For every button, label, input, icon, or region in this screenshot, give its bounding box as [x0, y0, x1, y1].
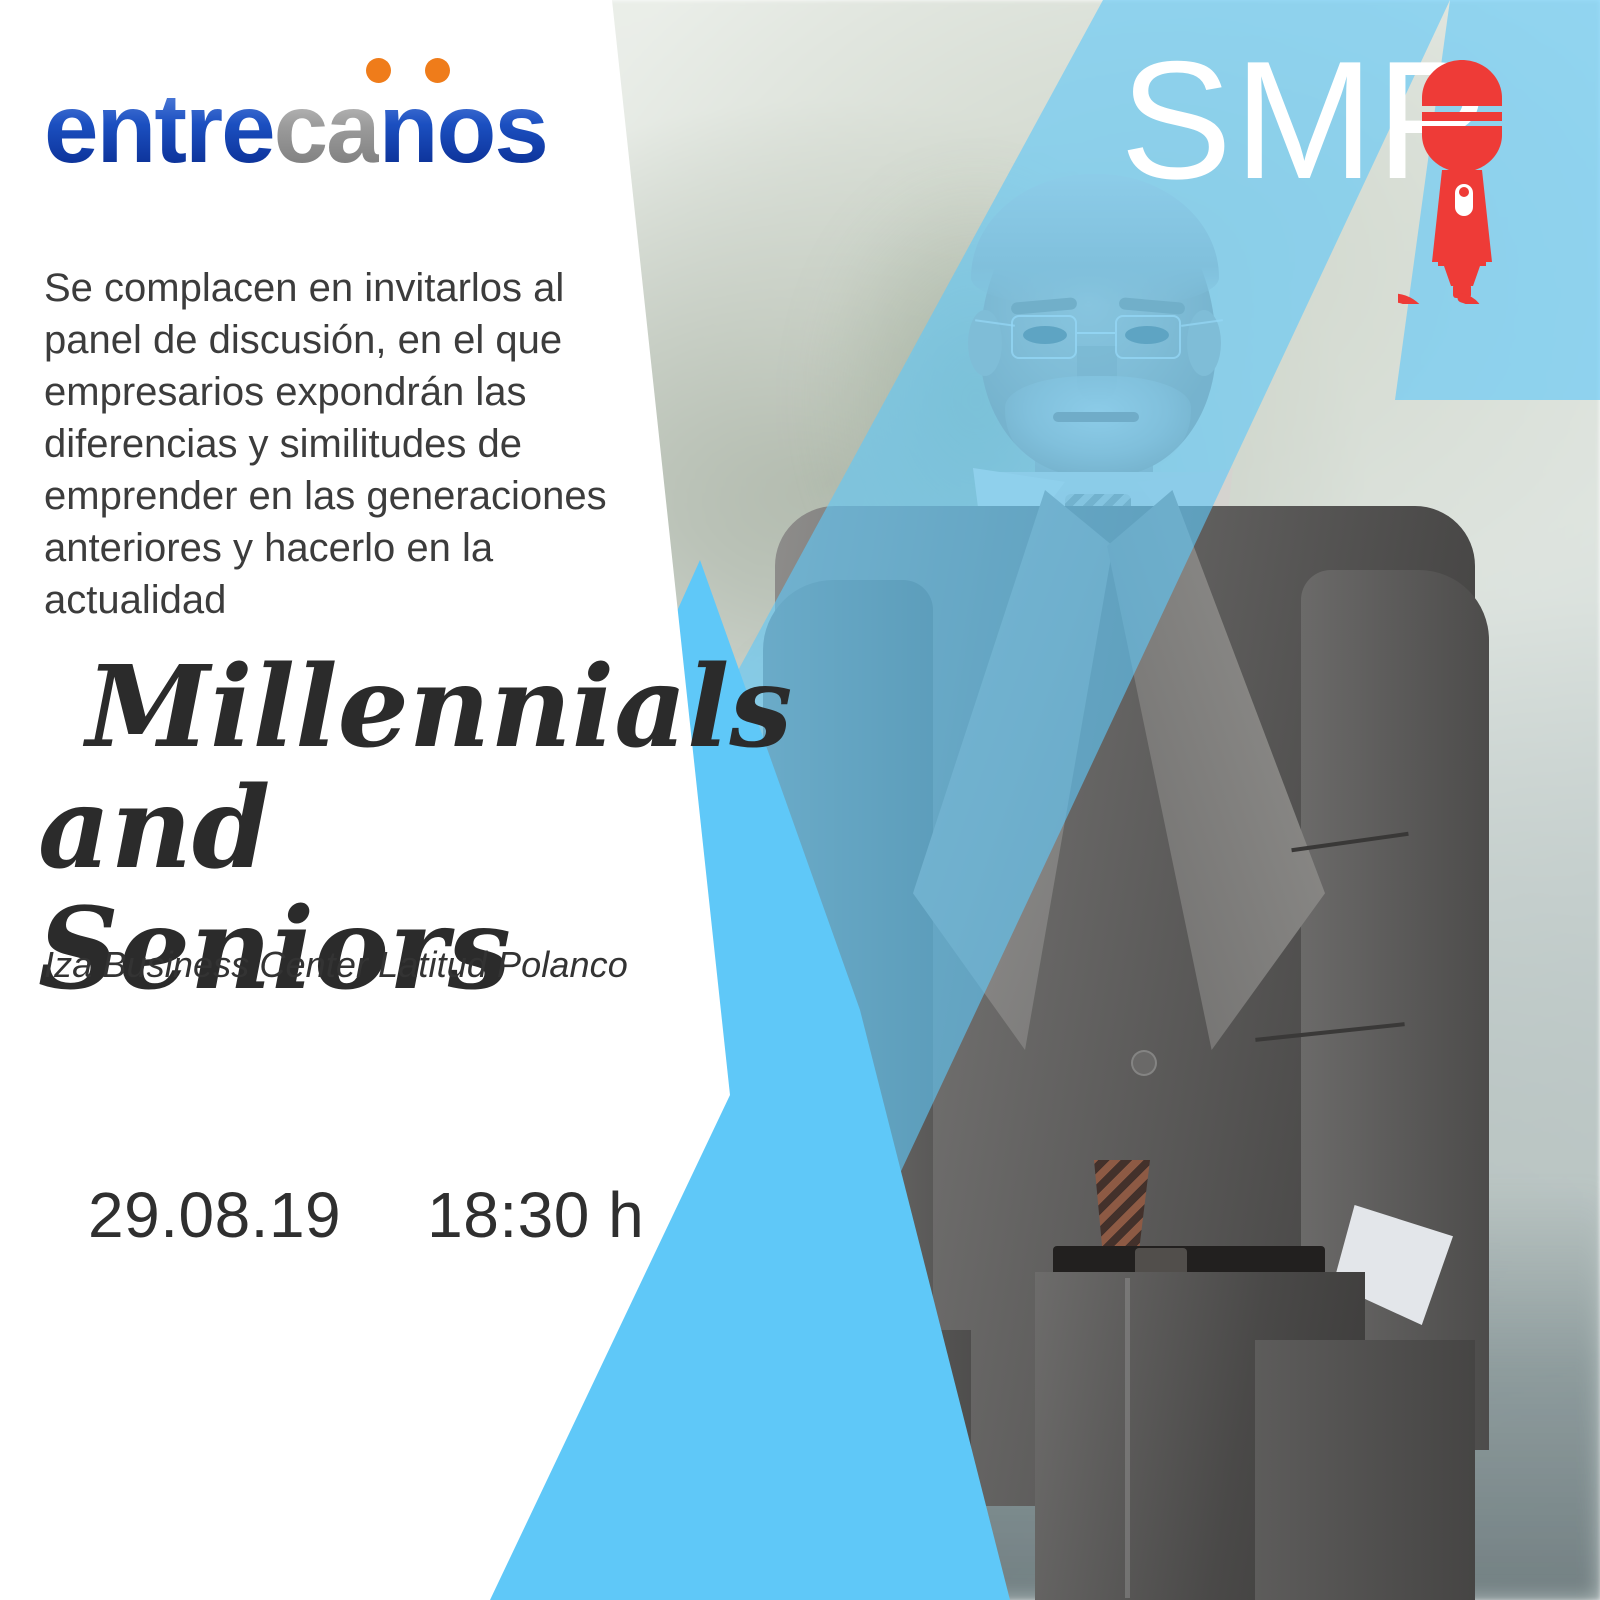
entrecanos-logo-part-1: entre	[44, 86, 274, 170]
jacket-hem-right	[1255, 1340, 1475, 1600]
event-date: 29.08.19	[88, 1178, 341, 1252]
event-flyer: entre ca nos Se complacen en invitarlos …	[0, 0, 1600, 1600]
event-time: 18:30 h	[427, 1178, 644, 1252]
orange-dot-icon-right	[425, 58, 450, 83]
event-venue: Iza Business Center Latitud Polanco	[44, 944, 704, 986]
entrecanos-logo-dots	[366, 58, 450, 83]
jacket-button	[1131, 1050, 1157, 1076]
orange-dot-icon-left	[366, 58, 391, 83]
trouser-crease	[1125, 1278, 1130, 1598]
invitation-lead-text: Se complacen en invitarlos al panel de d…	[44, 262, 644, 626]
entrecanos-logo-part-3: nos	[379, 86, 547, 170]
microphone-icon	[1398, 54, 1526, 304]
smp-logo[interactable]: SMP	[1120, 36, 1540, 316]
entrecanos-logo-part-2: ca	[274, 86, 379, 170]
event-datetime: 29.08.19 18:30 h	[88, 1178, 644, 1252]
event-title-line-1: Millennials	[86, 642, 792, 773]
entrecanos-logo[interactable]: entre ca nos	[44, 66, 547, 170]
